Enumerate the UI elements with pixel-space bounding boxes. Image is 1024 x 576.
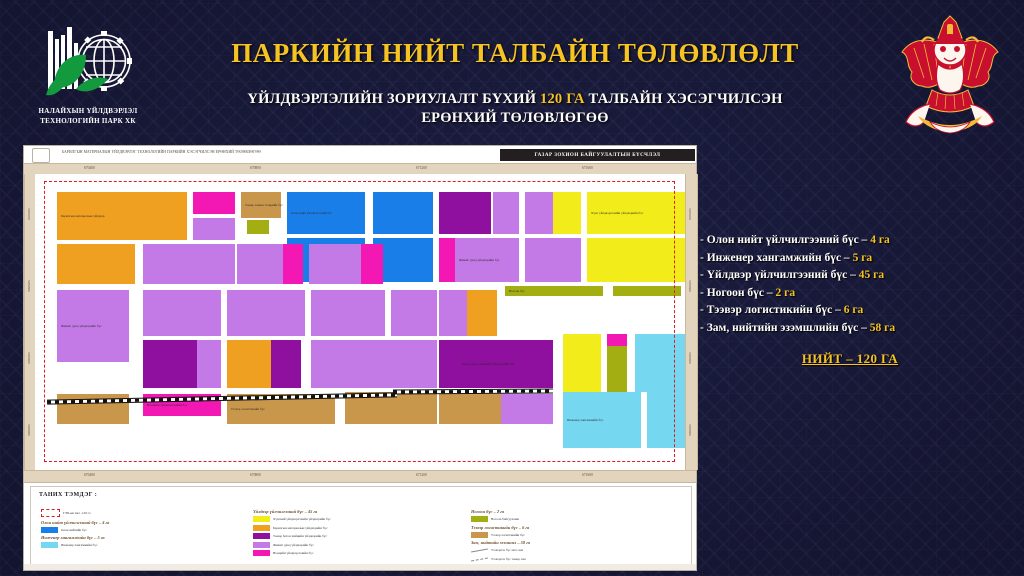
industry-swatch-icon [253, 516, 270, 522]
legend-row-industry: Жижиг дунд үйлдвэрийн бүс [253, 542, 331, 548]
legend-industry-label: Хүнсний үйлдвэрлэлийн үйлдвэрийн бүс [273, 517, 331, 521]
zone-label: Ногоон бүс – [707, 287, 776, 299]
public-zone-swatch-icon [41, 527, 58, 533]
zone-amount: 2 га [775, 287, 795, 299]
boundary-swatch-icon [41, 509, 60, 517]
legend-row-engineering: Инженер хангамжийн бүс [41, 542, 109, 548]
sheet-stamp-box [32, 148, 50, 163]
company-logo: НАЛАЙХЫН ҮЙЛДВЭРЛЭЛ ТЕХНОЛОГИЙН ПАРК ХК [18, 22, 158, 134]
sheet-banner: ГАЗАР ЗОХИОН БАЙГУУЛАЛТЫН БҮСЧЛЭЛ [500, 149, 695, 161]
project-boundary-line [44, 181, 675, 462]
state-emblem [894, 12, 1006, 134]
coordinate-tick: 671600 [582, 166, 593, 170]
sheet-banner-label: ГАЗАР ЗОХИОН БАЙГУУЛАЛТЫН БҮСЧЛЭЛ [500, 149, 695, 161]
zone-total: НИЙТ – 120 ГА [700, 351, 1000, 367]
legend-road-label: Тээвэрлэх бүс авто зам [491, 548, 523, 552]
zone-label: Зам, нийтийн эзэмшлийн бүс – [707, 322, 870, 334]
zone-bullet: - [700, 252, 707, 264]
zone-label: Олон нийт үйлчилгээний бүс – [707, 234, 870, 246]
mongolian-tsam-mask-emblem [894, 12, 1006, 134]
zone-summary-list: - Олон нийт үйлчилгээний бүс – 4 га- Инж… [700, 232, 1000, 367]
slide-header: НАЛАЙХЫН ҮЙЛДВЭРЛЭЛ ТЕХНОЛОГИЙН ПАРК ХК … [0, 0, 1024, 145]
legend-public-label: Олон нийтийн бүс [61, 528, 87, 532]
globe-gear-leaf-logo [18, 22, 158, 108]
map-legend-column-3: Ногоон бүс – 2 га Ногоон байгууламж Тээв… [471, 509, 530, 564]
legend-row-road: Тээвэрлэх бүс авто зам [471, 547, 530, 553]
legend-industry-label: Нөөцийн үйлдвэрлэлийн бүс [273, 551, 313, 555]
coordinate-tick: 5268000 [688, 424, 692, 436]
map-sheet[interactable]: БАРИЛГЫН МАТЕРИАЛЫН ҮЙЛДВЭРЛЭГ ТЕХНОЛОГИ… [24, 146, 696, 570]
zone-bullet: - [700, 234, 707, 246]
legend-green-label: Ногоон байгууламж [491, 517, 519, 521]
subtitle-line2: ЕРӨНХИЙ ТӨЛӨВЛӨГӨӨ [150, 109, 880, 128]
zone-item: - Зам, нийтийн эзэмшлийн бүс – 58 га [700, 320, 1000, 338]
map-canvas[interactable]: Барилгын материалын үйлдвэрТөмөр замын т… [35, 174, 685, 470]
map-legend-panel: ТАНИХ ТЭМДЭГ : ГЭБ-ын хил -120 га Олон н… [30, 486, 692, 566]
legend-row-green: Ногоон байгууламж [471, 516, 530, 522]
coordinate-tick: 671200 [416, 473, 427, 477]
zone-item: - Олон нийт үйлчилгээний бүс – 4 га [700, 232, 1000, 250]
legend-head-industry: Үйлдвэр үйлчилгээний бүс – 45 га [253, 509, 331, 514]
logistics-zone-swatch-icon [471, 532, 488, 538]
industry-swatch-icon [253, 533, 270, 539]
zone-label: Тээвэр логистикийн бүс – [707, 304, 844, 316]
legend-row-logistics: Тээвэр логистикийн бүс [471, 532, 530, 538]
sheet-footer-strip [24, 564, 696, 570]
page-subtitle: ҮЙЛДВЭРЛЭЛИЙН ЗОРИУЛАЛТ БҮХИЙ 120 ГА ТАЛ… [150, 90, 880, 128]
coordinate-bar-right: 5269200526880052684005268000 [685, 174, 698, 470]
legend-logistics-label: Тээвэр логистикийн бүс [491, 533, 525, 537]
zone-label: Инженер хангамжийн бүс – [707, 252, 853, 264]
logo-caption-line1: НАЛАЙХЫН ҮЙЛДВЭРЛЭЛ [18, 106, 158, 116]
zone-amount: 58 га [870, 322, 895, 334]
map-legend-column-1: ГЭБ-ын хил -120 га Олон нийт үйлчилгээни… [41, 509, 109, 551]
legend-head-public: Олон нийт үйлчилгээний бүс – 4 га [41, 520, 109, 525]
coordinate-tick: 5268800 [27, 280, 31, 292]
sheet-document-title: БАРИЛГЫН МАТЕРИАЛЫН ҮЙЛДВЭРЛЭГ ТЕХНОЛОГИ… [62, 150, 261, 154]
map-legend-column-2: Үйлдвэр үйлчилгээний бүс – 45 га Хүнсний… [253, 509, 331, 559]
zone-amount: 4 га [870, 234, 890, 246]
legend-row-public: Олон нийтийн бүс [41, 527, 109, 533]
legend-head-logistics: Тээвэр логистикийн бүс – 6 га [471, 525, 530, 530]
rail-line-swatch-icon [471, 556, 488, 562]
zone-item: - Үйлдвэр үйлчилгээний бүс – 45 га [700, 267, 1000, 285]
zone-item: - Инженер хангамжийн бүс – 5 га [700, 250, 1000, 268]
legend-boundary-label: ГЭБ-ын хил -120 га [63, 511, 90, 515]
green-zone-swatch-icon [471, 516, 488, 522]
coordinate-tick: 670400 [84, 166, 95, 170]
zone-bullet: - [700, 287, 707, 299]
coordinate-tick: 671600 [582, 473, 593, 477]
legend-row-industry: Барилгын материалын үйлдвэрийн бүс [253, 525, 331, 531]
zone-item: - Тээвэр логистикийн бүс – 6 га [700, 302, 1000, 320]
zone-bullet: - [700, 322, 707, 334]
legend-rail-label: Тээвэрлэх бүс төмөр зам [491, 557, 526, 561]
zone-bullet: - [700, 304, 707, 316]
coordinate-tick: 5268800 [688, 280, 692, 292]
coordinate-tick: 5268000 [27, 424, 31, 436]
legend-head-road: Зам, нийтийн эзэмшил – 58 га [471, 540, 530, 545]
legend-head-engineering: Инженер хангамжийн бүс – 5 га [41, 535, 109, 540]
zone-amount: 45 га [859, 269, 884, 281]
subtitle-area-highlight: 120 ГА [540, 91, 585, 107]
legend-row-boundary: ГЭБ-ын хил -120 га [41, 509, 109, 517]
coordinate-tick: 5268400 [688, 352, 692, 364]
subtitle-part2: ТАЛБАЙН ХЭСЭГЧИЛСЭН [585, 91, 783, 107]
legend-row-industry: Хүнсний үйлдвэрлэлийн үйлдвэрийн бүс [253, 516, 331, 522]
engineering-zone-swatch-icon [41, 542, 58, 548]
industry-swatch-icon [253, 550, 270, 556]
legend-head-green: Ногоон бүс – 2 га [471, 509, 530, 514]
industry-swatch-icon [253, 542, 270, 548]
zone-item: - Ногоон бүс – 2 га [700, 285, 1000, 303]
legend-industry-label: Жижиг дунд үйлдвэрийн бүс [273, 543, 314, 547]
coordinate-tick: 670800 [250, 473, 261, 477]
subtitle-part1: ҮЙЛДВЭРЛЭЛИЙН ЗОРИУЛАЛТ БҮХИЙ [247, 91, 540, 107]
coordinate-tick: 670400 [84, 473, 95, 477]
legend-row-rail: Тээвэрлэх бүс төмөр зам [471, 556, 530, 562]
logo-caption-line2: ТЕХНОЛОГИЙН ПАРК ХК [18, 116, 158, 126]
zone-label: Үйлдвэр үйлчилгээний бүс – [707, 269, 859, 281]
legend-engineering-label: Инженер хангамжийн бүс [61, 543, 97, 547]
road-line-swatch-icon [471, 547, 488, 553]
coordinate-bar-bottom: 670400670800671200671600 [24, 470, 696, 483]
zone-amount: 5 га [853, 252, 873, 264]
zone-bullet: - [700, 269, 707, 281]
page-title: ПАРКИЙН НИЙТ ТАЛБАЙН ТӨЛӨВЛӨЛТ [150, 38, 880, 69]
coordinate-tick: 5269200 [27, 208, 31, 220]
legend-industry-label: Төмөр бетон хийцийн үйлдвэрийн бүс [273, 534, 327, 538]
coordinate-tick: 671200 [416, 166, 427, 170]
logo-caption: НАЛАЙХЫН ҮЙЛДВЭРЛЭЛ ТЕХНОЛОГИЙН ПАРК ХК [18, 106, 158, 126]
zone-amount: 6 га [844, 304, 864, 316]
legend-row-industry: Төмөр бетон хийцийн үйлдвэрийн бүс [253, 533, 331, 539]
map-legend-title: ТАНИХ ТЭМДЭГ : [39, 492, 97, 498]
legend-row-industry: Нөөцийн үйлдвэрлэлийн бүс [253, 550, 331, 556]
coordinate-tick: 5269200 [688, 208, 692, 220]
coordinate-tick: 670800 [250, 166, 261, 170]
coordinate-tick: 5268400 [27, 352, 31, 364]
industry-swatch-icon [253, 525, 270, 531]
legend-industry-label: Барилгын материалын үйлдвэрийн бүс [273, 526, 328, 530]
